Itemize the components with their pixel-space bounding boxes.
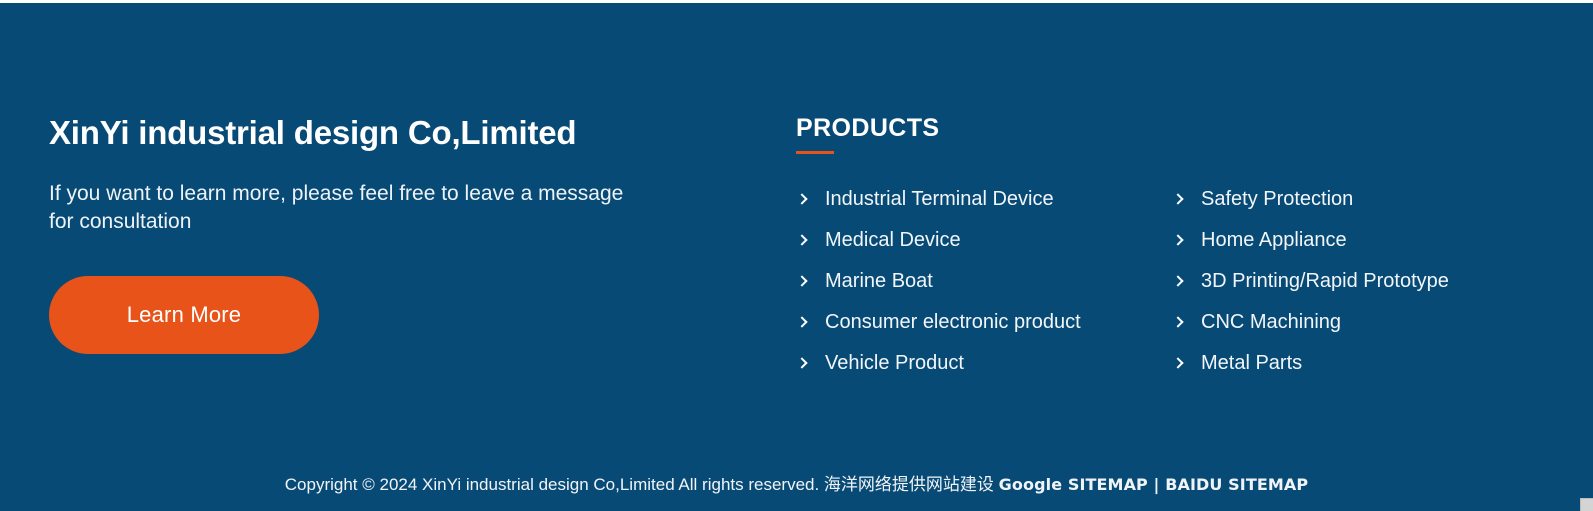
product-label: CNC Machining [1201,311,1341,334]
product-link-industrial-terminal-device[interactable]: Industrial Terminal Device [796,179,1172,220]
product-link-vehicle-product[interactable]: Vehicle Product [796,343,1172,384]
product-label: Home Appliance [1201,229,1347,252]
product-link-columns: Industrial Terminal Device Medical Devic… [796,179,1556,384]
chevron-right-icon [796,234,809,247]
heading-underline-accent [796,151,834,154]
product-link-3d-printing-rapid-prototype[interactable]: 3D Printing/Rapid Prototype [1172,261,1552,302]
product-link-safety-protection[interactable]: Safety Protection [1172,179,1552,220]
product-label: Vehicle Product [825,352,964,375]
learn-more-button[interactable]: Learn More [49,276,319,354]
product-link-medical-device[interactable]: Medical Device [796,220,1172,261]
product-label: Industrial Terminal Device [825,188,1054,211]
products-heading: PRODUCTS [796,113,1556,143]
products-section: PRODUCTS Industrial Terminal Device Medi… [796,113,1556,384]
google-sitemap-link[interactable]: Google SITEMAP [999,475,1148,494]
product-label: Marine Boat [825,270,933,293]
copyright-text: Copyright © 2024 XinYi industrial design… [285,475,999,494]
footer-left-column: XinYi industrial design Co,Limited If yo… [49,111,709,354]
chevron-right-icon [1172,234,1185,247]
footer-tagline: If you want to learn more, please feel f… [49,180,639,236]
chevron-right-icon [1172,193,1185,206]
product-label: 3D Printing/Rapid Prototype [1201,270,1449,293]
sitemap-separator: | [1148,475,1165,494]
product-label: Safety Protection [1201,188,1353,211]
chevron-right-icon [796,275,809,288]
site-footer: XinYi industrial design Co,Limited If yo… [0,3,1593,511]
chevron-right-icon [1172,275,1185,288]
product-link-cnc-machining[interactable]: CNC Machining [1172,302,1552,343]
chevron-right-icon [1172,357,1185,370]
product-column-1: Industrial Terminal Device Medical Devic… [796,179,1172,384]
product-column-2: Safety Protection Home Appliance 3D Prin… [1172,179,1552,384]
product-link-home-appliance[interactable]: Home Appliance [1172,220,1552,261]
baidu-sitemap-link[interactable]: BAIDU SITEMAP [1165,475,1308,494]
company-title: XinYi industrial design Co,Limited [49,111,709,155]
footer-page: XinYi industrial design Co,Limited If yo… [0,0,1593,511]
chevron-right-icon [1172,316,1185,329]
product-label: Metal Parts [1201,352,1302,375]
product-link-metal-parts[interactable]: Metal Parts [1172,343,1552,384]
product-label: Medical Device [825,229,961,252]
product-link-marine-boat[interactable]: Marine Boat [796,261,1172,302]
chevron-right-icon [796,193,809,206]
chevron-right-icon [796,316,809,329]
resize-corner-handle[interactable] [1580,498,1593,511]
chevron-right-icon [796,357,809,370]
copyright-bar: Copyright © 2024 XinYi industrial design… [0,474,1593,496]
product-label: Consumer electronic product [825,311,1081,334]
product-link-consumer-electronic-product[interactable]: Consumer electronic product [796,302,1172,343]
